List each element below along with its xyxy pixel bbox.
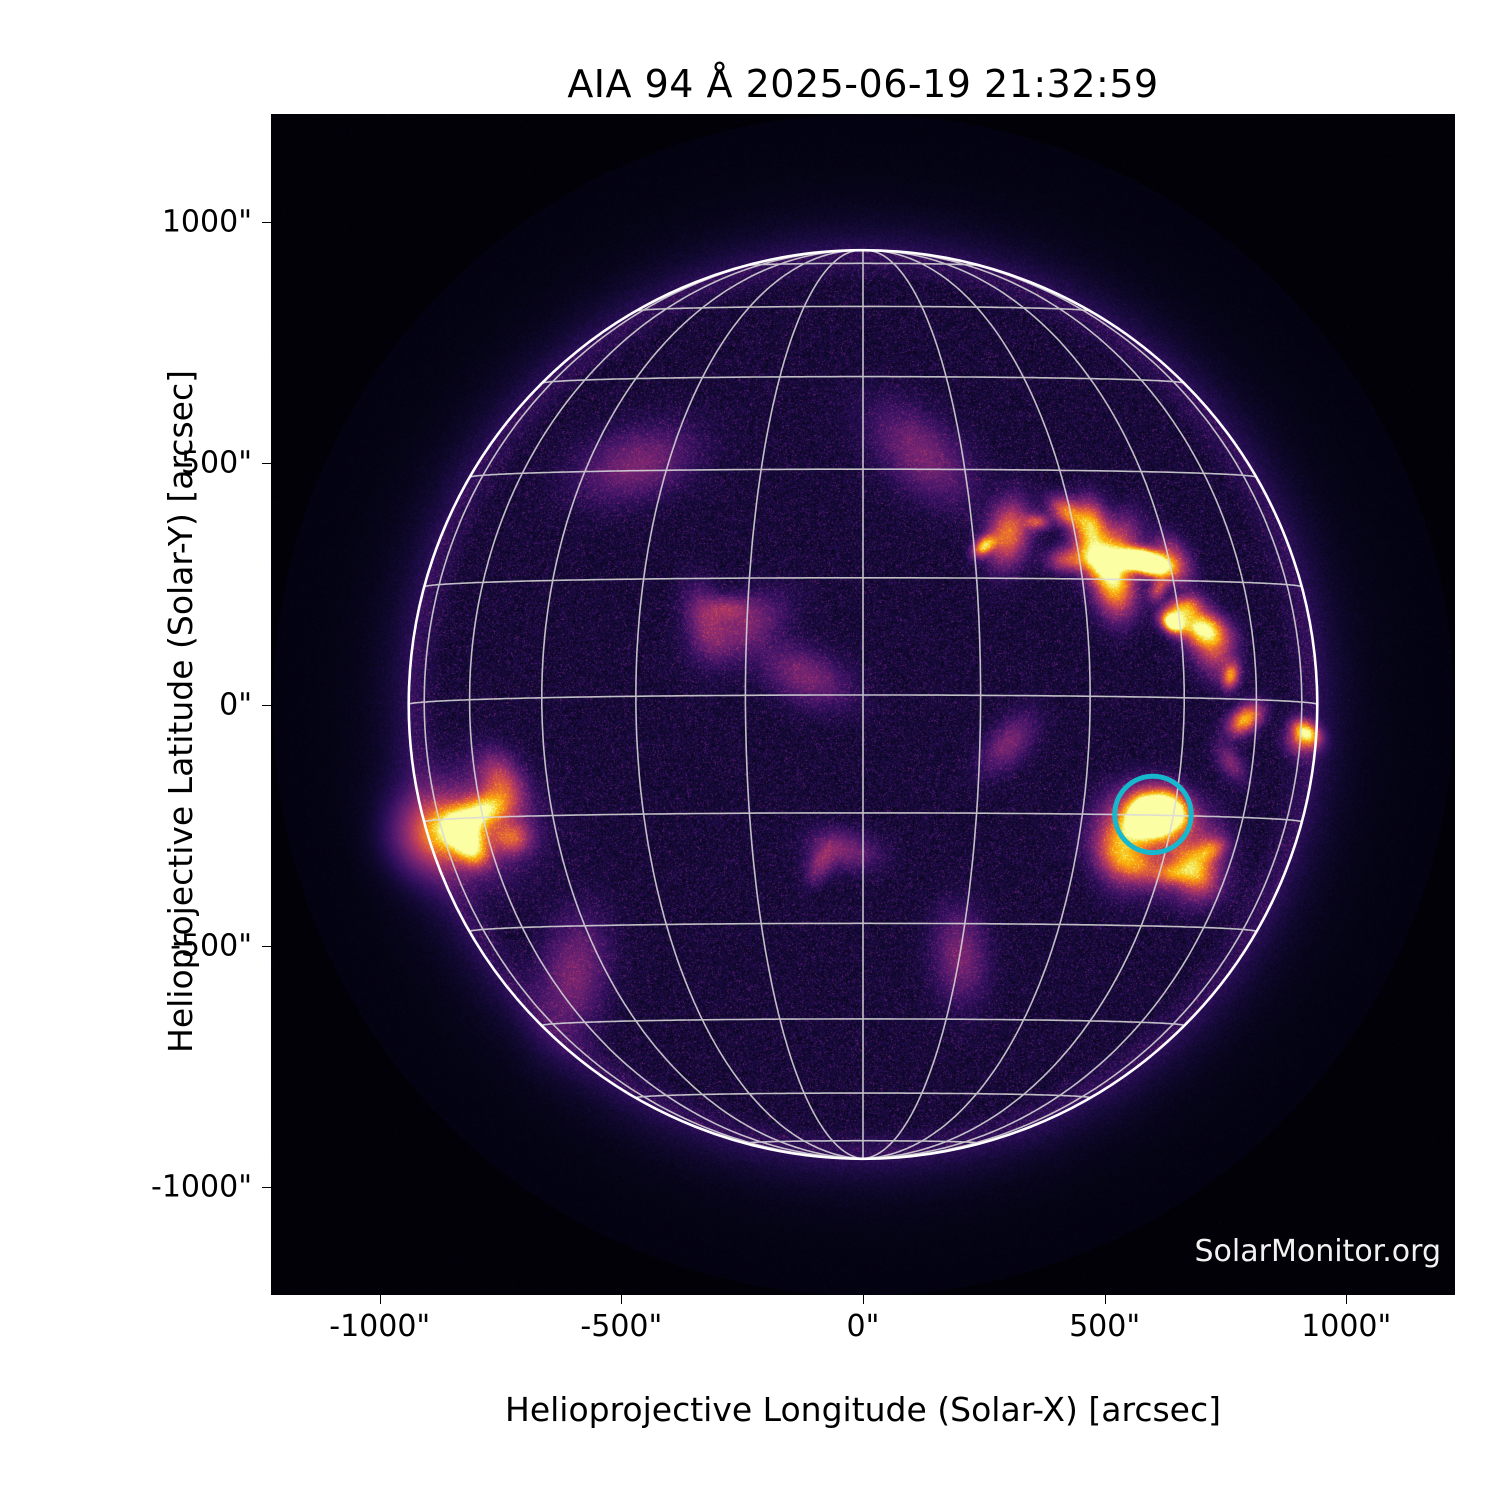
page-title: AIA 94 Å 2025-06-19 21:32:59 — [271, 62, 1455, 106]
x-tick-mark — [380, 1295, 381, 1304]
y-tick-label: -1000" — [52, 1169, 252, 1204]
x-tick-label: 500" — [1069, 1309, 1140, 1344]
y-tick-mark — [262, 1187, 271, 1188]
grid-lines — [409, 250, 1318, 1158]
grid-line — [636, 250, 859, 1158]
y-tick-mark — [262, 946, 271, 947]
grid-line — [745, 250, 861, 1158]
solar-image-plot-area[interactable]: SolarMonitor.org — [271, 114, 1455, 1295]
x-axis-label: Helioprojective Longitude (Solar-X) [arc… — [271, 1390, 1455, 1429]
y-tick-label: 500" — [52, 446, 252, 481]
y-tick-mark — [262, 463, 271, 464]
x-tick-label: 1000" — [1301, 1309, 1391, 1344]
solar-image-figure: AIA 94 Å 2025-06-19 21:32:59 SolarMonito… — [0, 0, 1500, 1500]
solarmonitor-watermark: SolarMonitor.org — [1195, 1234, 1441, 1269]
heliographic-grid-overlay — [271, 114, 1455, 1295]
grid-line — [867, 250, 1090, 1158]
x-tick-mark — [1105, 1295, 1106, 1304]
y-tick-label: -500" — [52, 928, 252, 963]
y-tick-label: 0" — [52, 687, 252, 722]
x-tick-mark — [863, 1295, 864, 1304]
grid-line — [865, 250, 981, 1158]
x-tick-mark — [1346, 1295, 1347, 1304]
grid-line — [871, 252, 1302, 1159]
x-tick-mark — [621, 1295, 622, 1304]
y-axis-label: Helioprojective Latitude (Solar-Y) [arcs… — [161, 121, 200, 1302]
grid-line — [870, 251, 1257, 1159]
x-tick-label: -1000" — [329, 1309, 430, 1344]
x-tick-label: -500" — [580, 1309, 662, 1344]
grid-line — [424, 252, 855, 1159]
y-tick-mark — [262, 222, 271, 223]
x-tick-label: 0" — [847, 1309, 880, 1344]
y-tick-mark — [262, 705, 271, 706]
grid-line — [470, 251, 856, 1159]
y-tick-label: 1000" — [52, 205, 252, 240]
